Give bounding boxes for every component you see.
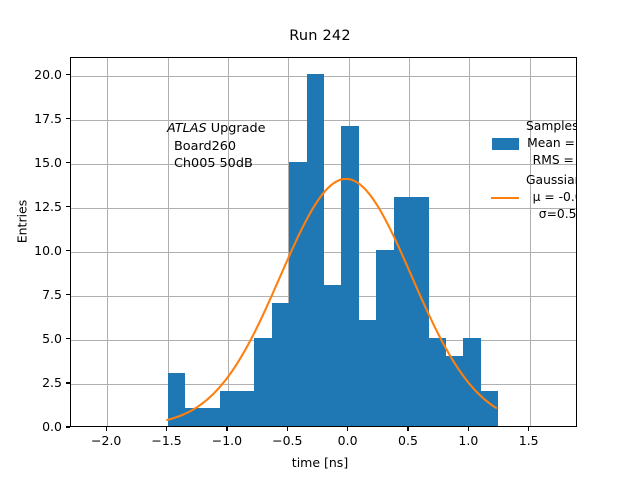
x-axis-label: time [ns] (0, 455, 640, 470)
matplotlib-figure: Run 242 ATLAS Upgrade Board260 Ch005 50d… (0, 0, 640, 480)
x-tick-mark (407, 427, 408, 431)
y-tick-mark (66, 294, 70, 295)
atlas-label: ATLAS (167, 121, 207, 136)
annotation-line-2: Board260 (167, 138, 265, 156)
y-tick-label: 5.0 (14, 331, 62, 346)
atlas-annotation: ATLAS Upgrade Board260 Ch005 50dB (167, 120, 265, 173)
chart-legend: Samples (126): Mean = -0.001 RMS = 0.553… (490, 118, 577, 226)
x-tick-label: −1.5 (137, 433, 197, 448)
x-tick-label: 1.5 (499, 433, 559, 448)
x-tick-mark (468, 427, 469, 431)
x-tick-mark (528, 427, 529, 431)
legend-entry-gaussian-fit: Gaussian Fit: μ = -0.013 σ=0.546 (490, 172, 577, 223)
y-tick-mark (66, 74, 70, 75)
legend-entry-samples: Samples (126): Mean = -0.001 RMS = 0.553 (490, 118, 577, 169)
page-title: Run 242 (0, 28, 640, 44)
y-axis-label: Entries (15, 122, 30, 322)
y-tick-label: 0.0 (14, 419, 62, 434)
y-tick-mark (66, 382, 70, 383)
legend-samples-line-1: Samples (126): (526, 118, 577, 135)
fit-line-icon (491, 197, 519, 199)
x-tick-label: −0.5 (257, 433, 317, 448)
legend-fit-line-3: σ=0.546 (526, 206, 577, 223)
x-tick-label: −2.0 (76, 433, 136, 448)
legend-fit-line-1: Gaussian Fit: (526, 172, 577, 189)
y-tick-mark (66, 162, 70, 163)
x-tick-mark (287, 427, 288, 431)
y-tick-mark (66, 118, 70, 119)
y-tick-mark (66, 338, 70, 339)
legend-line-handle (490, 183, 520, 213)
samples-swatch-icon (492, 138, 519, 150)
x-tick-label: −1.0 (197, 433, 257, 448)
y-tick-mark (66, 206, 70, 207)
x-tick-mark (106, 427, 107, 431)
gaussian-fit-curve (71, 58, 576, 426)
x-tick-label: 0.0 (318, 433, 378, 448)
plot-area: ATLAS Upgrade Board260 Ch005 50dB Sample… (70, 57, 577, 427)
legend-fit-line-2: μ = -0.013 (526, 189, 577, 206)
upgrade-label: Upgrade (207, 121, 266, 136)
legend-samples-line-2: Mean = -0.001 (526, 135, 577, 152)
annotation-line-3: Ch005 50dB (167, 155, 265, 173)
legend-samples-line-3: RMS = 0.553 (526, 152, 577, 169)
legend-text-samples: Samples (126): Mean = -0.001 RMS = 0.553 (526, 118, 577, 169)
legend-text-gaussian-fit: Gaussian Fit: μ = -0.013 σ=0.546 (526, 172, 577, 223)
x-tick-mark (166, 427, 167, 431)
y-tick-mark (66, 426, 70, 427)
y-tick-label: 20.0 (14, 67, 62, 82)
legend-patch-handle (490, 129, 520, 159)
y-tick-mark (66, 250, 70, 251)
x-tick-label: 0.5 (378, 433, 438, 448)
annotation-line-1: ATLAS Upgrade (167, 120, 265, 138)
x-tick-mark (347, 427, 348, 431)
y-tick-label: 2.5 (14, 375, 62, 390)
x-tick-mark (226, 427, 227, 431)
x-tick-label: 1.0 (438, 433, 498, 448)
